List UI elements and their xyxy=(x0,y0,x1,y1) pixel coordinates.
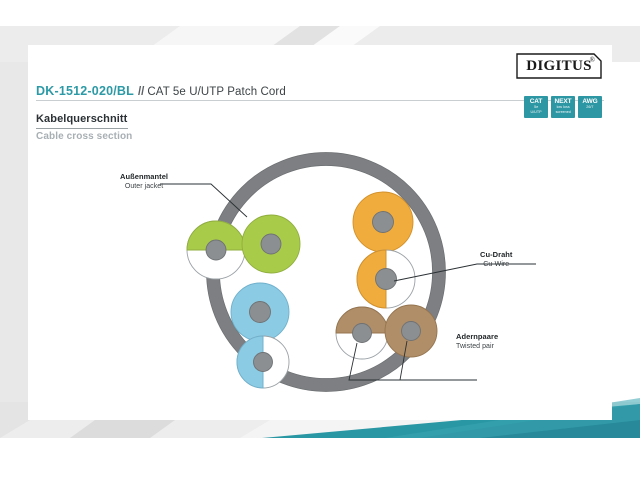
badge-cat: CAT 5e U/UTP xyxy=(524,96,548,118)
badge-next-sub2: screened xyxy=(555,110,570,114)
copper-core xyxy=(353,324,372,343)
section-title-underline xyxy=(36,128,128,129)
annotation-twisted-pair-de: Adernpaare xyxy=(456,332,498,342)
wire-orange-solid xyxy=(353,192,413,252)
wire-orange-striped xyxy=(357,250,415,308)
annotation-outer-jacket-de: Außenmantel xyxy=(120,172,168,182)
wire-brown-solid xyxy=(385,305,437,357)
wire-blue-solid xyxy=(231,283,289,341)
wire-pair-brown xyxy=(336,305,437,359)
product-title-line: DK-1512-020/BL//CAT 5e U/UTP Patch Cord xyxy=(36,82,286,100)
copper-core xyxy=(250,302,271,323)
annotation-cu-wire-de: Cu-Draht xyxy=(480,250,512,260)
annotation-cu-wire-en: Cu-Wire xyxy=(480,260,512,269)
badge-next: NEXT low loss screened xyxy=(551,96,575,118)
header-divider xyxy=(36,100,604,101)
product-sku: DK-1512-020/BL xyxy=(36,84,134,98)
wire-blue-striped xyxy=(237,336,289,388)
wire-pair-orange xyxy=(353,192,415,308)
annotation-cu-wire: Cu-Draht Cu-Wire xyxy=(480,250,512,269)
digitus-logo: DIGITUS ® xyxy=(516,53,602,79)
annotation-twisted-pair: Adernpaare Twisted pair xyxy=(456,332,498,351)
copper-core xyxy=(376,269,397,290)
wire-pair-green xyxy=(187,215,300,279)
badge-cat-sub2: U/UTP xyxy=(530,110,541,114)
cross-section-svg xyxy=(28,140,612,415)
copper-core xyxy=(402,322,421,341)
copper-core xyxy=(261,234,281,254)
wire-green-solid xyxy=(242,215,300,273)
annotation-outer-jacket-en: Outer jacket xyxy=(120,182,168,191)
product-description: CAT 5e U/UTP Patch Cord xyxy=(147,86,285,98)
annotation-twisted-pair-en: Twisted pair xyxy=(456,342,498,351)
wire-green-striped xyxy=(187,221,245,279)
copper-core xyxy=(254,353,273,372)
section-title-de: Kabelquerschnitt xyxy=(36,113,127,125)
annotation-outer-jacket: Außenmantel Outer jacket xyxy=(120,172,168,191)
copper-core xyxy=(206,240,226,260)
document-page: DIGITUS ® DK-1512-020/BL//CAT 5e U/UTP P… xyxy=(28,45,612,420)
badge-awg-sub: 26/7 xyxy=(586,105,593,109)
certification-badges: CAT 5e U/UTP NEXT low loss screened AWG … xyxy=(524,96,602,118)
registered-mark-icon: ® xyxy=(590,56,595,64)
wire-brown-striped xyxy=(336,307,388,359)
badge-awg: AWG 26/7 xyxy=(578,96,602,118)
copper-core xyxy=(373,212,394,233)
cable-cross-section-diagram: Außenmantel Outer jacket Cu-Draht Cu-Wir… xyxy=(28,140,612,415)
slide-canvas: DIGITUS ® DK-1512-020/BL//CAT 5e U/UTP P… xyxy=(0,0,640,480)
title-separator: // xyxy=(138,86,144,98)
